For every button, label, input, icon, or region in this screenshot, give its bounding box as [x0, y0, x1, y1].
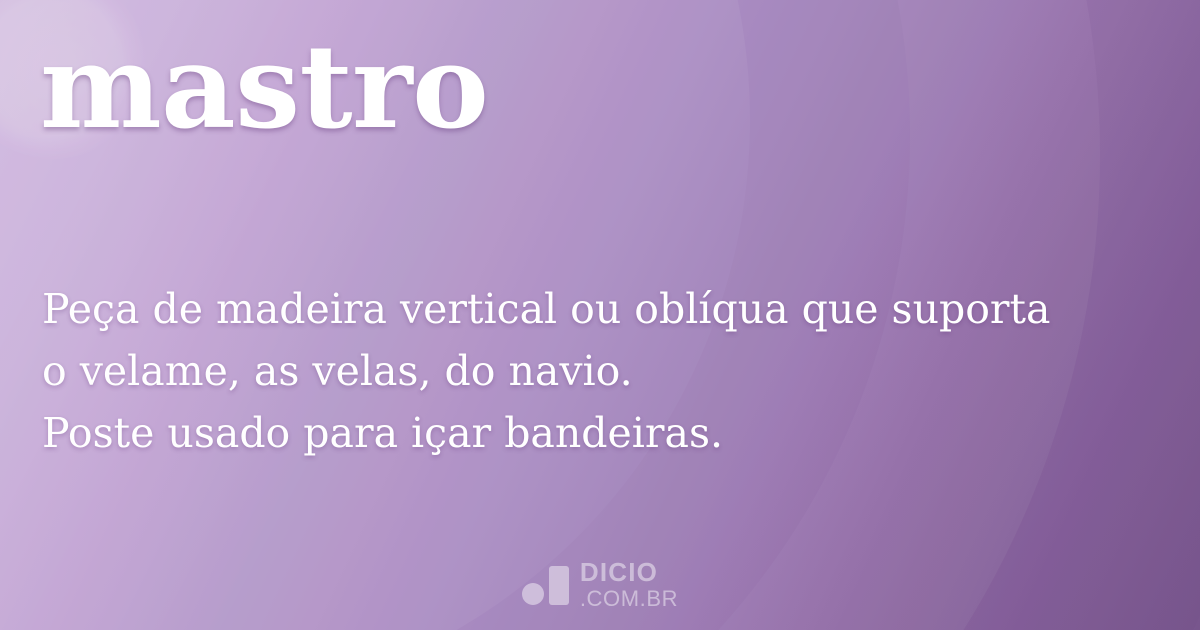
definition-line: Peça de madeira vertical ou oblíqua que …: [42, 278, 1162, 340]
logo-mark: [522, 565, 569, 605]
definition-block: Peça de madeira vertical ou oblíqua que …: [42, 278, 1162, 464]
bar-icon: [549, 566, 569, 605]
brand-logo: DICIO .COM.BR: [0, 559, 1200, 610]
definition-line: o velame, as velas, do navio.: [42, 340, 1162, 402]
page-title: mastro: [40, 30, 488, 145]
brand-name: DICIO: [580, 559, 678, 585]
logo-text: DICIO .COM.BR: [580, 559, 678, 610]
circle-icon: [522, 583, 544, 605]
brand-tld: .COM.BR: [580, 588, 678, 610]
dictionary-share-card: mastro Peça de madeira vertical ou oblíq…: [0, 0, 1200, 630]
definition-line: Poste usado para içar bandeiras.: [42, 402, 1162, 464]
